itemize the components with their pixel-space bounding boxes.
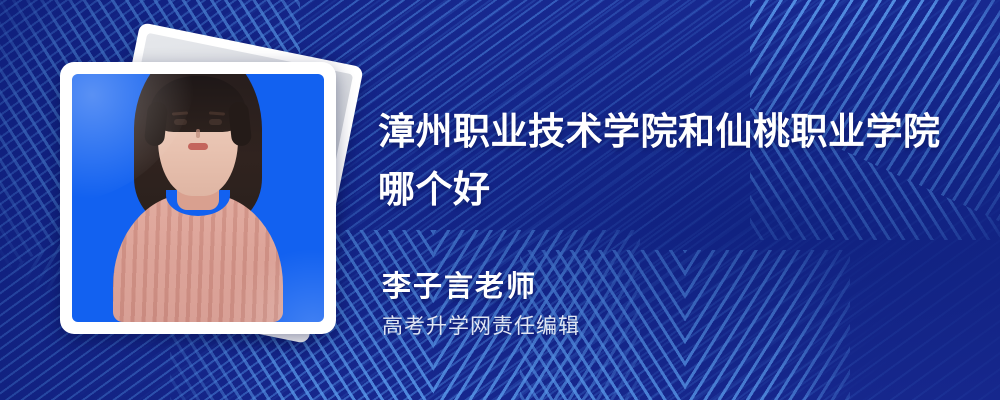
- article-banner: 漳州职业技术学院和仙桃职业学院 哪个好 李子言老师 高考升学网责任编辑: [0, 0, 1000, 400]
- author-block: 李子言老师 高考升学网责任编辑: [382, 268, 580, 341]
- portrait-mouth: [188, 143, 208, 150]
- author-portrait-photo: [72, 74, 324, 322]
- author-name: 李子言老师: [382, 268, 580, 306]
- page-title: 漳州职业技术学院和仙桃职业学院 哪个好: [378, 103, 954, 219]
- portrait-nose: [196, 129, 200, 138]
- page-title-line-2: 哪个好: [378, 161, 954, 219]
- photo-stack: [48, 34, 358, 354]
- portrait-eye-right: [209, 119, 222, 125]
- page-title-line-1: 漳州职业技术学院和仙桃职业学院: [378, 103, 954, 161]
- author-role: 高考升学网责任编辑: [382, 313, 580, 341]
- photo-highlight-bottom-right: [223, 248, 324, 322]
- photo-card-front: [60, 62, 336, 334]
